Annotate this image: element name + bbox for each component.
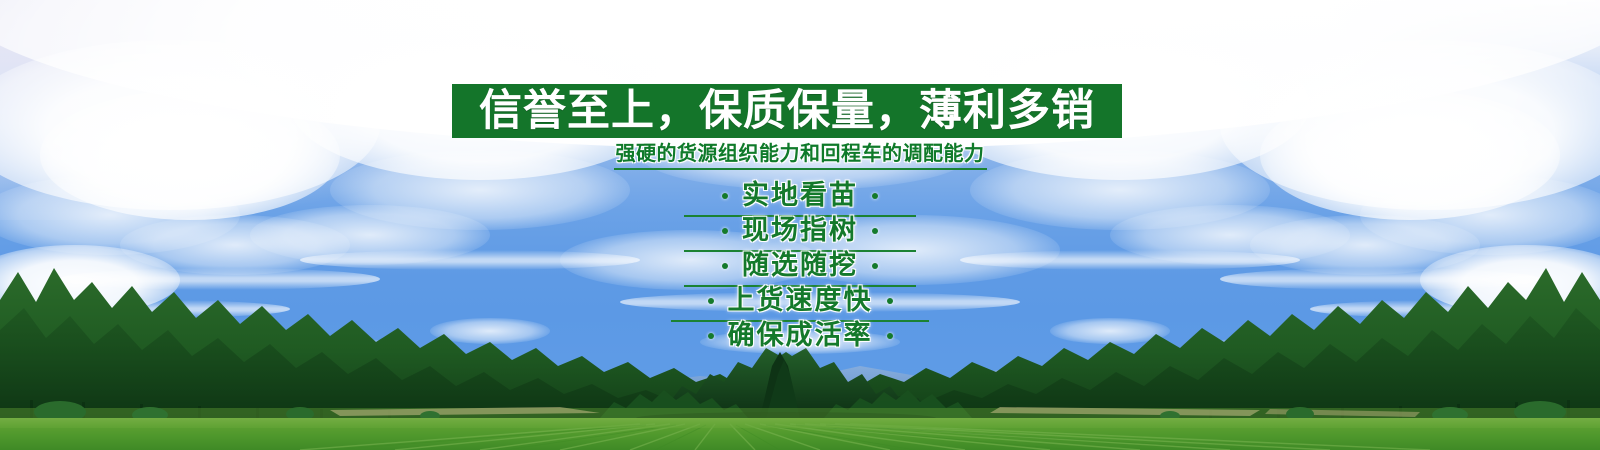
feature-label-2: 现场指树 bbox=[742, 217, 858, 244]
bullet-dot-icon-left-4 bbox=[708, 298, 714, 304]
bullet-dot-icon-right-3 bbox=[872, 263, 878, 269]
feature-item-2: 现场指树 bbox=[0, 215, 1600, 250]
subtitle-row: 强硬的货源组织能力和回程车的调配能力 bbox=[0, 144, 1600, 170]
bullet-dot-icon-right-1 bbox=[872, 193, 878, 199]
subtitle-text: 强硬的货源组织能力和回程车的调配能力 bbox=[614, 144, 987, 170]
promotional-banner: 信誉至上，保质保量，薄利多销 强硬的货源组织能力和回程车的调配能力 实地看苗 现… bbox=[0, 0, 1600, 450]
feature-label-1: 实地看苗 bbox=[742, 182, 858, 209]
headline-banner-bar: 信誉至上，保质保量，薄利多销 bbox=[452, 84, 1122, 138]
bullet-dot-icon-right-4 bbox=[887, 298, 893, 304]
bullet-dot-icon-right-2 bbox=[872, 228, 878, 234]
bullet-dot-icon-left-2 bbox=[722, 228, 728, 234]
feature-item-3: 随选随挖 bbox=[0, 250, 1600, 285]
bullet-dot-icon-left-1 bbox=[722, 193, 728, 199]
feature-item-4: 上货速度快 bbox=[0, 285, 1600, 320]
feature-list: 实地看苗 现场指树 随选随挖 bbox=[0, 180, 1600, 355]
banner-content: 信誉至上，保质保量，薄利多销 强硬的货源组织能力和回程车的调配能力 实地看苗 现… bbox=[0, 0, 1600, 450]
bullet-dot-icon-left-3 bbox=[722, 263, 728, 269]
feature-label-5: 确保成活率 bbox=[728, 322, 873, 349]
feature-item-1: 实地看苗 bbox=[0, 180, 1600, 215]
bullet-dot-icon-left-5 bbox=[708, 333, 714, 339]
bullet-dot-icon-right-5 bbox=[887, 333, 893, 339]
headline-text: 信誉至上，保质保量，薄利多销 bbox=[479, 90, 1095, 133]
feature-item-5: 确保成活率 bbox=[0, 320, 1600, 355]
feature-label-3: 随选随挖 bbox=[742, 252, 858, 279]
feature-label-4: 上货速度快 bbox=[728, 287, 873, 314]
